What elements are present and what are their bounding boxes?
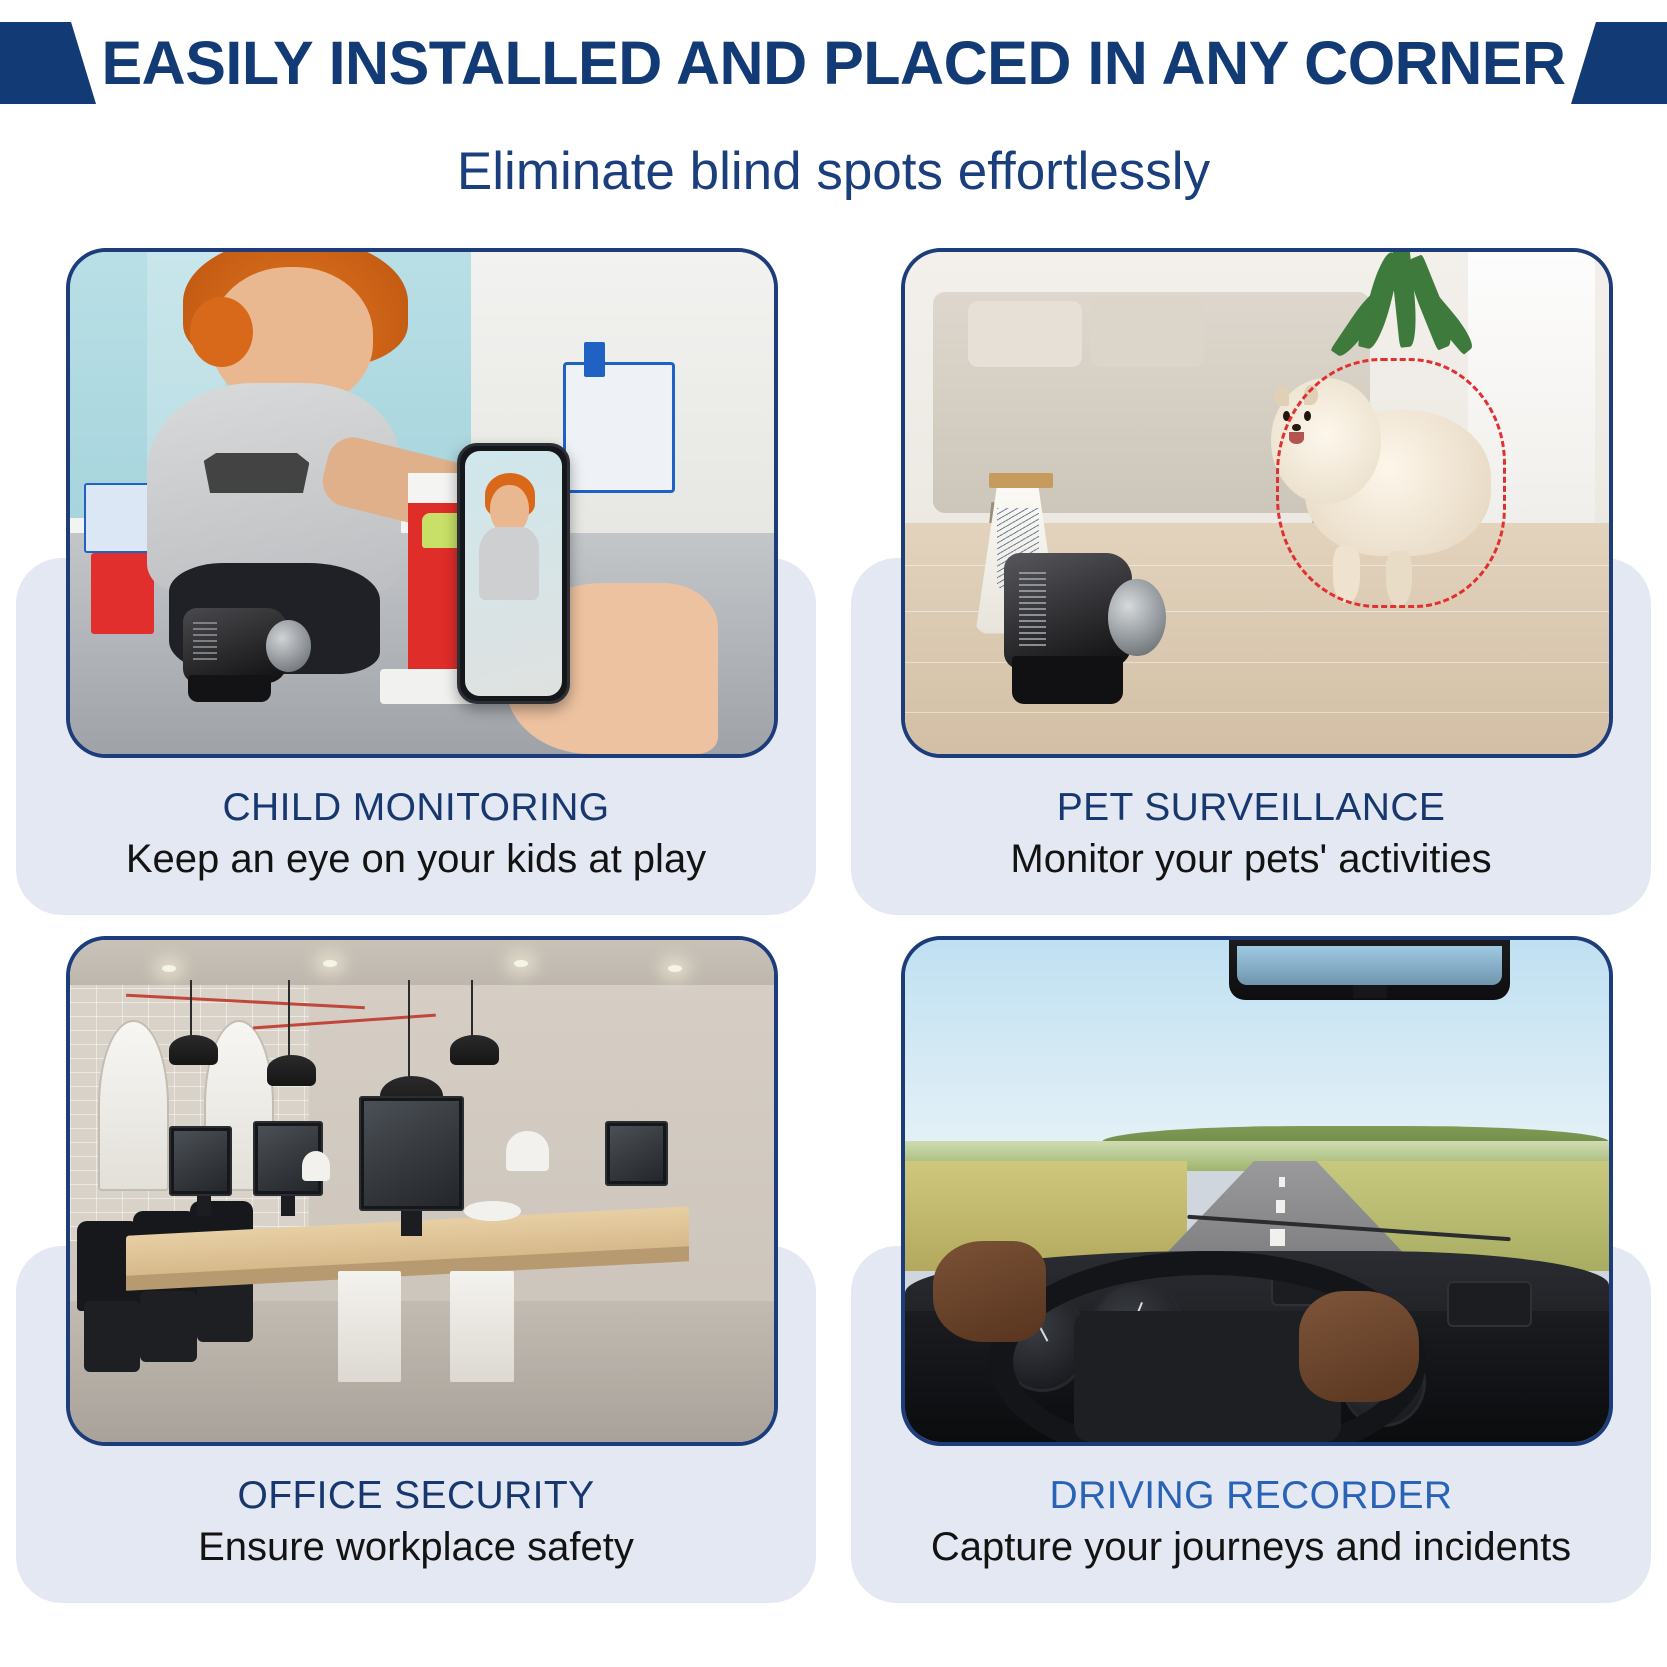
use-case-card-driving-recorder: DRIVING RECORDER Capture your journeys a… <box>843 928 1659 1608</box>
dog-ear-left <box>1274 386 1288 406</box>
lane-marking <box>1279 1177 1285 1187</box>
office-chair-base <box>140 1291 196 1361</box>
monitor-screen <box>364 1101 460 1206</box>
ceiling <box>70 940 774 985</box>
scene-office <box>70 940 774 1442</box>
recessed-light <box>514 960 528 967</box>
monitor-stand <box>281 1196 295 1216</box>
lane-marking <box>1276 1200 1285 1213</box>
phone-feed-body <box>479 527 539 601</box>
header-banner: EASILY INSTALLED AND PLACED IN ANY CORNE… <box>0 0 1667 125</box>
card-photo-child-monitoring <box>66 248 778 758</box>
air-vent <box>1447 1281 1531 1326</box>
use-case-grid: CHILD MONITORING Keep an eye on your kid… <box>0 240 1667 1640</box>
monitor <box>169 1126 232 1196</box>
monitor <box>359 1096 465 1211</box>
camera-stand <box>1012 656 1124 704</box>
desk-pedestal <box>450 1271 513 1381</box>
pendant-cord <box>471 980 473 1040</box>
pendant-cord <box>190 980 192 1040</box>
use-case-card-child-monitoring: CHILD MONITORING Keep an eye on your kid… <box>8 240 824 920</box>
driver-hand-right <box>1299 1291 1419 1401</box>
desk-lamp <box>506 1131 548 1171</box>
card-description: Ensure workplace safety <box>16 1523 816 1571</box>
detection-outline-icon <box>1276 358 1506 609</box>
pendant-lamp <box>169 1035 218 1065</box>
sofa-cushion-left <box>968 301 1081 367</box>
pendant-lamp <box>450 1035 499 1065</box>
sofa-cushion-right <box>1090 297 1203 368</box>
card-description: Monitor your pets' activities <box>851 835 1651 883</box>
infographic-page: EASILY INSTALLED AND PLACED IN ANY CORNE… <box>0 0 1667 1667</box>
toy-flag <box>584 342 605 377</box>
recessed-light <box>162 965 176 972</box>
driver-hand-left <box>933 1241 1046 1341</box>
child-hair-side <box>190 297 253 367</box>
office-chair-base <box>84 1301 140 1371</box>
card-title: DRIVING RECORDER <box>851 1473 1651 1519</box>
monitor-screen <box>174 1131 227 1191</box>
card-title: CHILD MONITORING <box>16 785 816 831</box>
toy-building <box>563 362 676 493</box>
monitor-stand <box>401 1211 422 1236</box>
monitor <box>605 1121 668 1186</box>
desk-lamp <box>302 1151 330 1181</box>
use-case-card-office-security: OFFICE SECURITY Ensure workplace safety <box>8 928 824 1608</box>
card-title: OFFICE SECURITY <box>16 1473 816 1519</box>
monitor-screen <box>610 1126 663 1181</box>
desk-pedestal <box>338 1271 401 1381</box>
mini-camera <box>1004 553 1173 714</box>
pendant-lamp <box>267 1055 316 1085</box>
scene-pet-living-room <box>905 252 1609 754</box>
pendant-cord <box>288 980 290 1060</box>
vase-top <box>989 473 1052 488</box>
camera-vents <box>193 622 217 664</box>
pomeranian-dog <box>1271 352 1510 613</box>
mirror-stem <box>1353 985 1387 998</box>
lane-marking <box>1270 1229 1285 1246</box>
mini-camera <box>183 608 317 703</box>
camera-lens <box>266 620 311 672</box>
rear-view-mirror <box>1229 940 1511 1000</box>
desk-lamp-base <box>464 1201 520 1221</box>
page-title: EASILY INSTALLED AND PLACED IN ANY CORNE… <box>0 26 1667 100</box>
camera-vents <box>1019 572 1046 646</box>
toy-block-red <box>91 553 154 633</box>
pendant-cord <box>408 980 410 1080</box>
arched-window <box>98 1020 168 1191</box>
camera-lens <box>1108 579 1165 656</box>
scene-child-playroom <box>70 252 774 754</box>
card-title: PET SURVEILLANCE <box>851 785 1651 831</box>
mirror-glass <box>1237 946 1502 985</box>
page-subtitle: Eliminate blind spots effortlessly <box>0 140 1667 204</box>
card-photo-pet-surveillance <box>901 248 1613 758</box>
card-photo-office-security <box>66 936 778 1446</box>
card-photo-driving-recorder <box>901 936 1613 1446</box>
smartphone <box>457 443 570 704</box>
card-description: Keep an eye on your kids at play <box>16 835 816 883</box>
monitor-stand <box>197 1196 211 1216</box>
card-description: Capture your journeys and incidents <box>851 1523 1651 1571</box>
scene-driving <box>905 940 1609 1442</box>
shirt-graphic <box>204 453 310 493</box>
camera-stand <box>188 675 271 702</box>
use-case-card-pet-surveillance: PET SURVEILLANCE Monitor your pets' acti… <box>843 240 1659 920</box>
phone-screen <box>465 451 562 696</box>
